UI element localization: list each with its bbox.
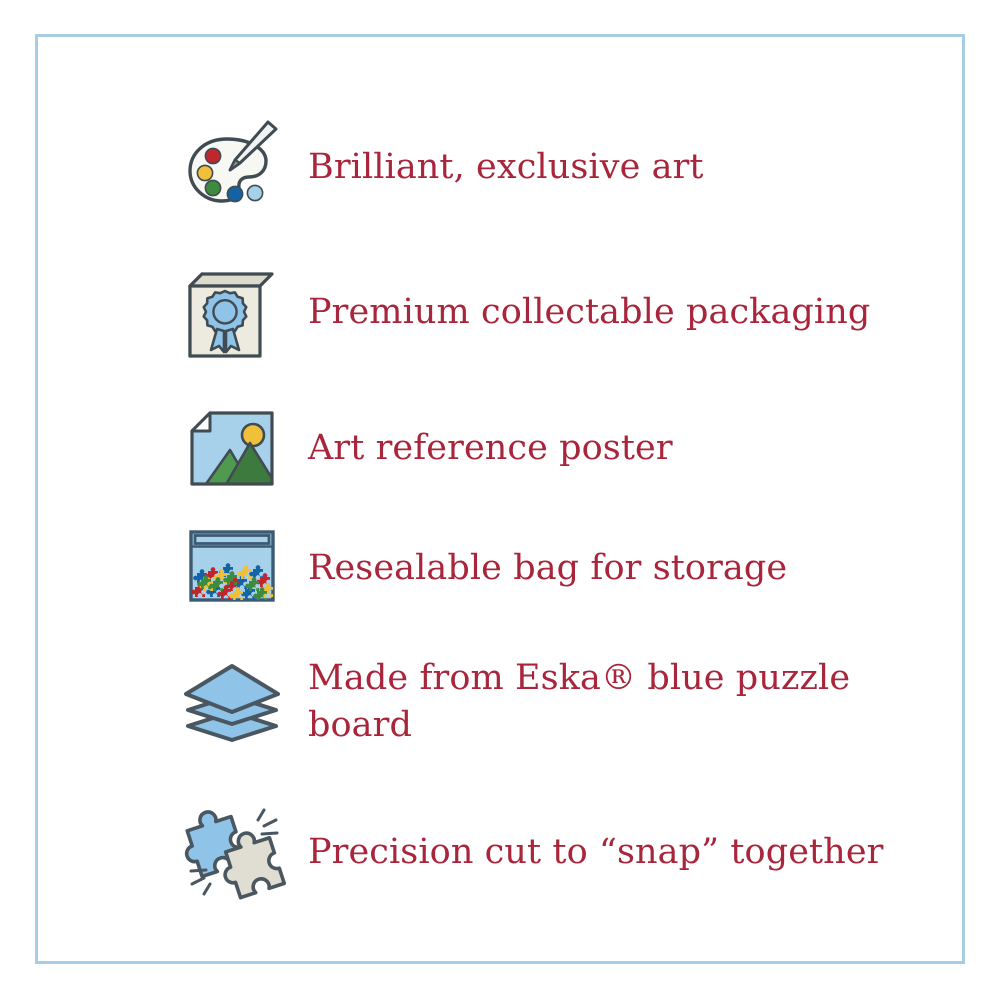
feature-label: Premium collectable packaging (286, 289, 870, 336)
feature-item-premium-packaging: Premium collectable packaging (178, 237, 938, 387)
feature-label: Brilliant, exclusive art (286, 144, 704, 191)
stacked-board-icon (178, 648, 286, 756)
decorative-border-frame: Brilliant, exclusive art (35, 34, 965, 964)
premium-box-icon (178, 258, 286, 366)
feature-label: Made from Eska® blue puzzle board (286, 655, 938, 748)
feature-item-puzzle-board: Made from Eska® blue puzzle board (178, 627, 938, 777)
puzzle-snap-icon (178, 798, 286, 906)
poster-canvas: Brilliant, exclusive art (0, 0, 1000, 1000)
resealable-bag-icon (178, 514, 286, 622)
feature-item-brilliant-art: Brilliant, exclusive art (178, 97, 938, 237)
feature-item-resealable-bag: Resealable bag for storage (178, 509, 938, 627)
feature-label: Art reference poster (286, 425, 673, 472)
feature-item-precision-cut: Precision cut to “snap” together (178, 777, 938, 927)
feature-list: Brilliant, exclusive art (178, 97, 938, 927)
feature-label: Precision cut to “snap” together (286, 829, 883, 876)
feature-label: Resealable bag for storage (286, 545, 787, 592)
art-poster-icon (178, 394, 286, 502)
paint-palette-icon (178, 113, 286, 221)
feature-item-art-poster: Art reference poster (178, 387, 938, 509)
